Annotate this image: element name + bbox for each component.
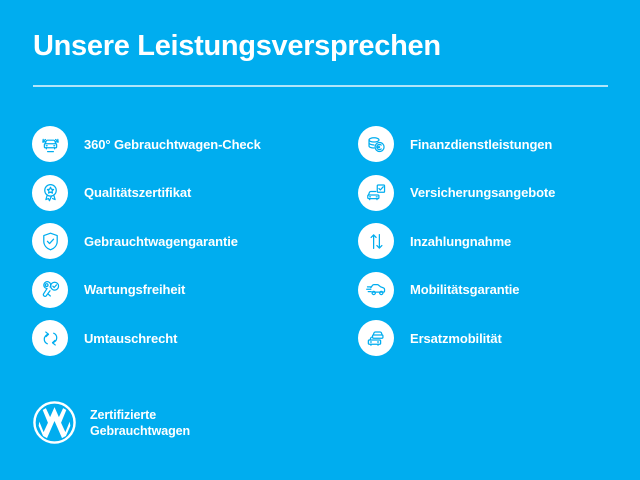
- two-cars-icon: [358, 320, 394, 356]
- list-item-label: Umtauschrecht: [84, 331, 177, 346]
- list-item[interactable]: Gebrauchtwagengarantie: [32, 223, 261, 259]
- list-item[interactable]: Finanzdienstleistungen: [358, 126, 555, 162]
- list-item-label: Qualitätszertifikat: [84, 185, 191, 200]
- page-title: Unsere Leistungsversprechen: [33, 29, 441, 63]
- list-item-label: Wartungsfreiheit: [84, 282, 185, 297]
- shield-check-icon: [32, 223, 68, 259]
- list-item[interactable]: Inzahlungnahme: [358, 223, 555, 259]
- car-speed-icon: [358, 272, 394, 308]
- promises-column-left: 360° Gebrauchtwagen-Check Qualitätszerti…: [32, 126, 261, 369]
- list-item[interactable]: Versicherungsangebote: [358, 175, 555, 211]
- exchange-arrows-icon: [32, 320, 68, 356]
- list-item[interactable]: Ersatzmobilität: [358, 320, 555, 356]
- wrench-check-icon: [32, 272, 68, 308]
- list-item[interactable]: Qualitätszertifikat: [32, 175, 261, 211]
- car-360-check-icon: [32, 126, 68, 162]
- list-item-label: 360° Gebrauchtwagen-Check: [84, 137, 261, 152]
- list-item-label: Versicherungsangebote: [410, 185, 555, 200]
- list-item-label: Finanzdienstleistungen: [410, 137, 552, 152]
- list-item[interactable]: Mobilitätsgarantie: [358, 272, 555, 308]
- promises-banner: Unsere Leistungsversprechen 360° Ge: [0, 0, 640, 480]
- list-item-label: Inzahlungnahme: [410, 234, 511, 249]
- list-item[interactable]: Umtauschrecht: [32, 320, 261, 356]
- brand-footer-line1: Zertifizierte: [90, 407, 190, 423]
- brand-footer: Zertifizierte Gebrauchtwagen: [32, 400, 190, 445]
- header-divider: [33, 85, 608, 87]
- brand-footer-text: Zertifizierte Gebrauchtwagen: [90, 407, 190, 439]
- list-item-label: Ersatzmobilität: [410, 331, 502, 346]
- award-rosette-icon: [32, 175, 68, 211]
- list-item[interactable]: Wartungsfreiheit: [32, 272, 261, 308]
- coins-euro-icon: [358, 126, 394, 162]
- brand-footer-line2: Gebrauchtwagen: [90, 423, 190, 439]
- vw-logo-icon: [32, 400, 77, 445]
- promises-column-right: Finanzdienstleistungen Versicherungsange…: [358, 126, 555, 369]
- arrows-up-down-icon: [358, 223, 394, 259]
- list-item[interactable]: 360° Gebrauchtwagen-Check: [32, 126, 261, 162]
- list-item-label: Mobilitätsgarantie: [410, 282, 519, 297]
- car-document-check-icon: [358, 175, 394, 211]
- list-item-label: Gebrauchtwagengarantie: [84, 234, 238, 249]
